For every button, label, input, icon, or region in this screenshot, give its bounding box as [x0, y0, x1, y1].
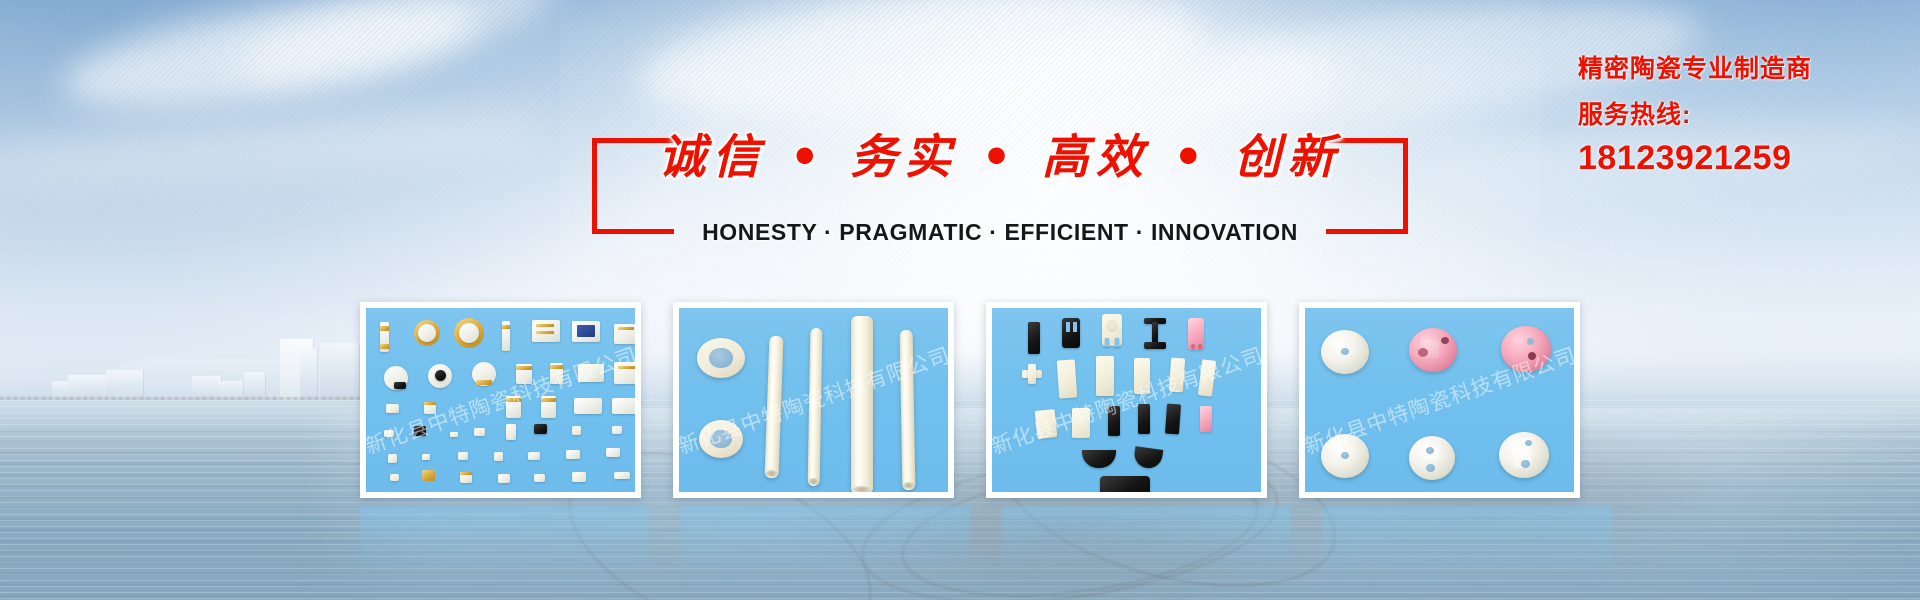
product-part: [1073, 322, 1077, 332]
product-part: [494, 452, 503, 461]
product-part: [618, 366, 635, 369]
product-part: [459, 323, 479, 343]
slogan-english: HONESTY · PRAGMATIC · EFFICIENT · INNOVA…: [592, 216, 1408, 248]
product-part: [1134, 358, 1150, 394]
product-panel-1[interactable]: 新化县中特陶瓷科技有限公司: [360, 302, 641, 498]
product-part: [422, 470, 435, 481]
ceramic-tube: [851, 316, 873, 492]
product-part: [550, 365, 563, 369]
product-part: [474, 428, 485, 436]
product-part: [1105, 338, 1109, 347]
product-part: [1066, 322, 1070, 332]
product-part: [1107, 320, 1117, 330]
disc-hole: [1426, 447, 1434, 454]
product-part: [422, 454, 430, 460]
ceramic-tube: [765, 336, 784, 478]
product-part: [612, 426, 622, 434]
panel-reflection: [681, 506, 970, 592]
product-part: [502, 325, 510, 329]
disc-hole: [1528, 352, 1536, 360]
panel-4-photo: 新化县中特陶瓷科技有限公司: [1305, 308, 1574, 492]
product-part: [1062, 318, 1080, 348]
product-part: [1072, 408, 1090, 438]
building: [300, 349, 318, 401]
disc-hole: [1525, 440, 1532, 446]
product-part: [614, 472, 630, 479]
disc-hole: [1418, 348, 1428, 357]
company-tagline: 精密陶瓷专业制造商: [1578, 50, 1908, 88]
hotline-number[interactable]: 18123921259: [1578, 136, 1908, 180]
product-part: [536, 324, 554, 327]
disc-hole: [1341, 348, 1349, 355]
product-part: [390, 474, 399, 481]
ceramic-tube: [900, 330, 916, 490]
product-part: [506, 398, 521, 402]
product-part: [574, 398, 602, 414]
product-part: [1198, 344, 1202, 349]
product-panel-row: 新化县中特陶瓷科技有限公司 新化县中特陶瓷科技有限公司: [360, 302, 1580, 498]
product-part: [1115, 338, 1119, 347]
product-part: [506, 424, 516, 440]
product-part: [606, 448, 620, 457]
ceramic-disc: [1321, 434, 1369, 478]
product-part: [460, 472, 472, 475]
product-part: [541, 398, 556, 402]
product-part: [394, 382, 406, 389]
product-part: [1200, 406, 1212, 432]
product-part: [1191, 344, 1195, 349]
product-part: [476, 380, 492, 385]
ceramic-disc: [1409, 436, 1455, 480]
product-part: [450, 432, 458, 437]
contact-block: 精密陶瓷专业制造商 服务热线: 18123921259: [1578, 50, 1908, 180]
product-part: [380, 326, 389, 331]
disc-hole: [1426, 464, 1435, 472]
product-part: [572, 426, 581, 435]
panel-3-photo: 新化县中特陶瓷科技有限公司: [992, 308, 1261, 492]
product-part: [572, 472, 586, 482]
ceramic-disc: [1321, 330, 1369, 374]
ceramic-tube: [808, 328, 823, 486]
ceramic-disc: [1501, 326, 1551, 372]
ceramic-disc: [1409, 328, 1457, 372]
product-part: [528, 452, 540, 460]
product-part: [388, 454, 397, 463]
hotline-label: 服务热线:: [1578, 94, 1908, 136]
product-part: [1035, 409, 1058, 439]
product-panel-4[interactable]: 新化县中特陶瓷科技有限公司: [1299, 302, 1580, 498]
product-part: [534, 424, 547, 434]
product-part: [618, 327, 634, 330]
product-part: [386, 404, 399, 413]
panel-2-photo: 新化县中特陶瓷科技有限公司: [679, 308, 948, 492]
hero-banner: 诚信 • 务实 • 高效 • 创新 HONESTY · PRAGMATIC · …: [0, 0, 1920, 600]
ceramic-block: [1100, 476, 1150, 492]
product-part: [1096, 356, 1114, 396]
product-part: [1198, 359, 1216, 396]
product-part: [424, 402, 436, 405]
panel-reflection: [1323, 506, 1612, 592]
product-part: [1152, 322, 1158, 344]
product-part: [418, 324, 436, 342]
product-part: [612, 398, 635, 414]
building-tower: [320, 343, 360, 401]
product-part: [458, 452, 468, 460]
product-part: [384, 430, 394, 437]
panel-watermark: 新化县中特陶瓷科技有限公司: [992, 339, 1261, 460]
product-part: [498, 474, 510, 483]
disc-hole: [1527, 338, 1534, 345]
product-part: [1028, 364, 1036, 384]
disc-hole: [1521, 460, 1530, 468]
product-part: [1028, 322, 1040, 354]
product-part: [1144, 342, 1166, 349]
ceramic-blade: [1133, 446, 1164, 470]
disc-hole: [1341, 452, 1349, 459]
panel-reflection: [360, 506, 649, 592]
product-part: [534, 474, 545, 482]
ceramic-ring: [697, 338, 745, 378]
ceramic-blade: [1082, 450, 1116, 468]
product-part: [1138, 404, 1150, 434]
product-part: [516, 366, 532, 370]
product-part: [577, 325, 595, 337]
product-part: [414, 426, 426, 436]
product-part: [380, 344, 389, 349]
panel-reflection: [1002, 506, 1291, 592]
disc-hole: [1441, 337, 1449, 344]
product-part: [1165, 404, 1181, 435]
product-part: [536, 331, 554, 334]
product-part: [1057, 359, 1078, 398]
product-part: [435, 370, 446, 381]
slogan-chinese: 诚信 • 务实 • 高效 • 创新: [592, 122, 1408, 194]
product-part: [1169, 358, 1185, 393]
product-part: [578, 364, 604, 382]
slogan-block: 诚信 • 务实 • 高效 • 创新 HONESTY · PRAGMATIC · …: [592, 138, 1408, 234]
panel-1-photo: 新化县中特陶瓷科技有限公司: [366, 308, 635, 492]
ceramic-disc: [1499, 432, 1549, 478]
product-panel-3[interactable]: 新化县中特陶瓷科技有限公司: [986, 302, 1267, 498]
ceramic-ring: [699, 420, 743, 458]
product-part: [1108, 406, 1120, 436]
product-part: [566, 450, 580, 459]
product-panel-2[interactable]: 新化县中特陶瓷科技有限公司: [673, 302, 954, 498]
